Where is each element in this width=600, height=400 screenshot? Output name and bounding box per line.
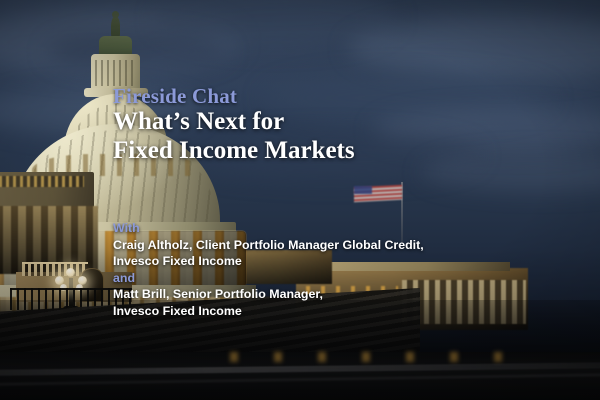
title-line-1: What’s Next for (113, 107, 355, 136)
page-title: What’s Next for Fixed Income Markets (113, 107, 355, 165)
title-line-2: Fixed Income Markets (113, 136, 355, 165)
text-overlay: Fireside Chat What’s Next for Fixed Inco… (0, 0, 600, 400)
speaker-2-org: Invesco Fixed Income (113, 303, 424, 320)
and-label: and (113, 270, 424, 287)
eyebrow-label: Fireside Chat (113, 84, 237, 109)
speaker-1-org: Invesco Fixed Income (113, 253, 424, 270)
with-label: With (113, 220, 424, 237)
title-slide: Fireside Chat What’s Next for Fixed Inco… (0, 0, 600, 400)
speaker-2-name-title: Matt Brill, Senior Portfolio Manager, (113, 286, 424, 303)
speaker-1-name-title: Craig Altholz, Client Portfolio Manager … (113, 237, 424, 254)
speaker-block: With Craig Altholz, Client Portfolio Man… (113, 220, 424, 320)
